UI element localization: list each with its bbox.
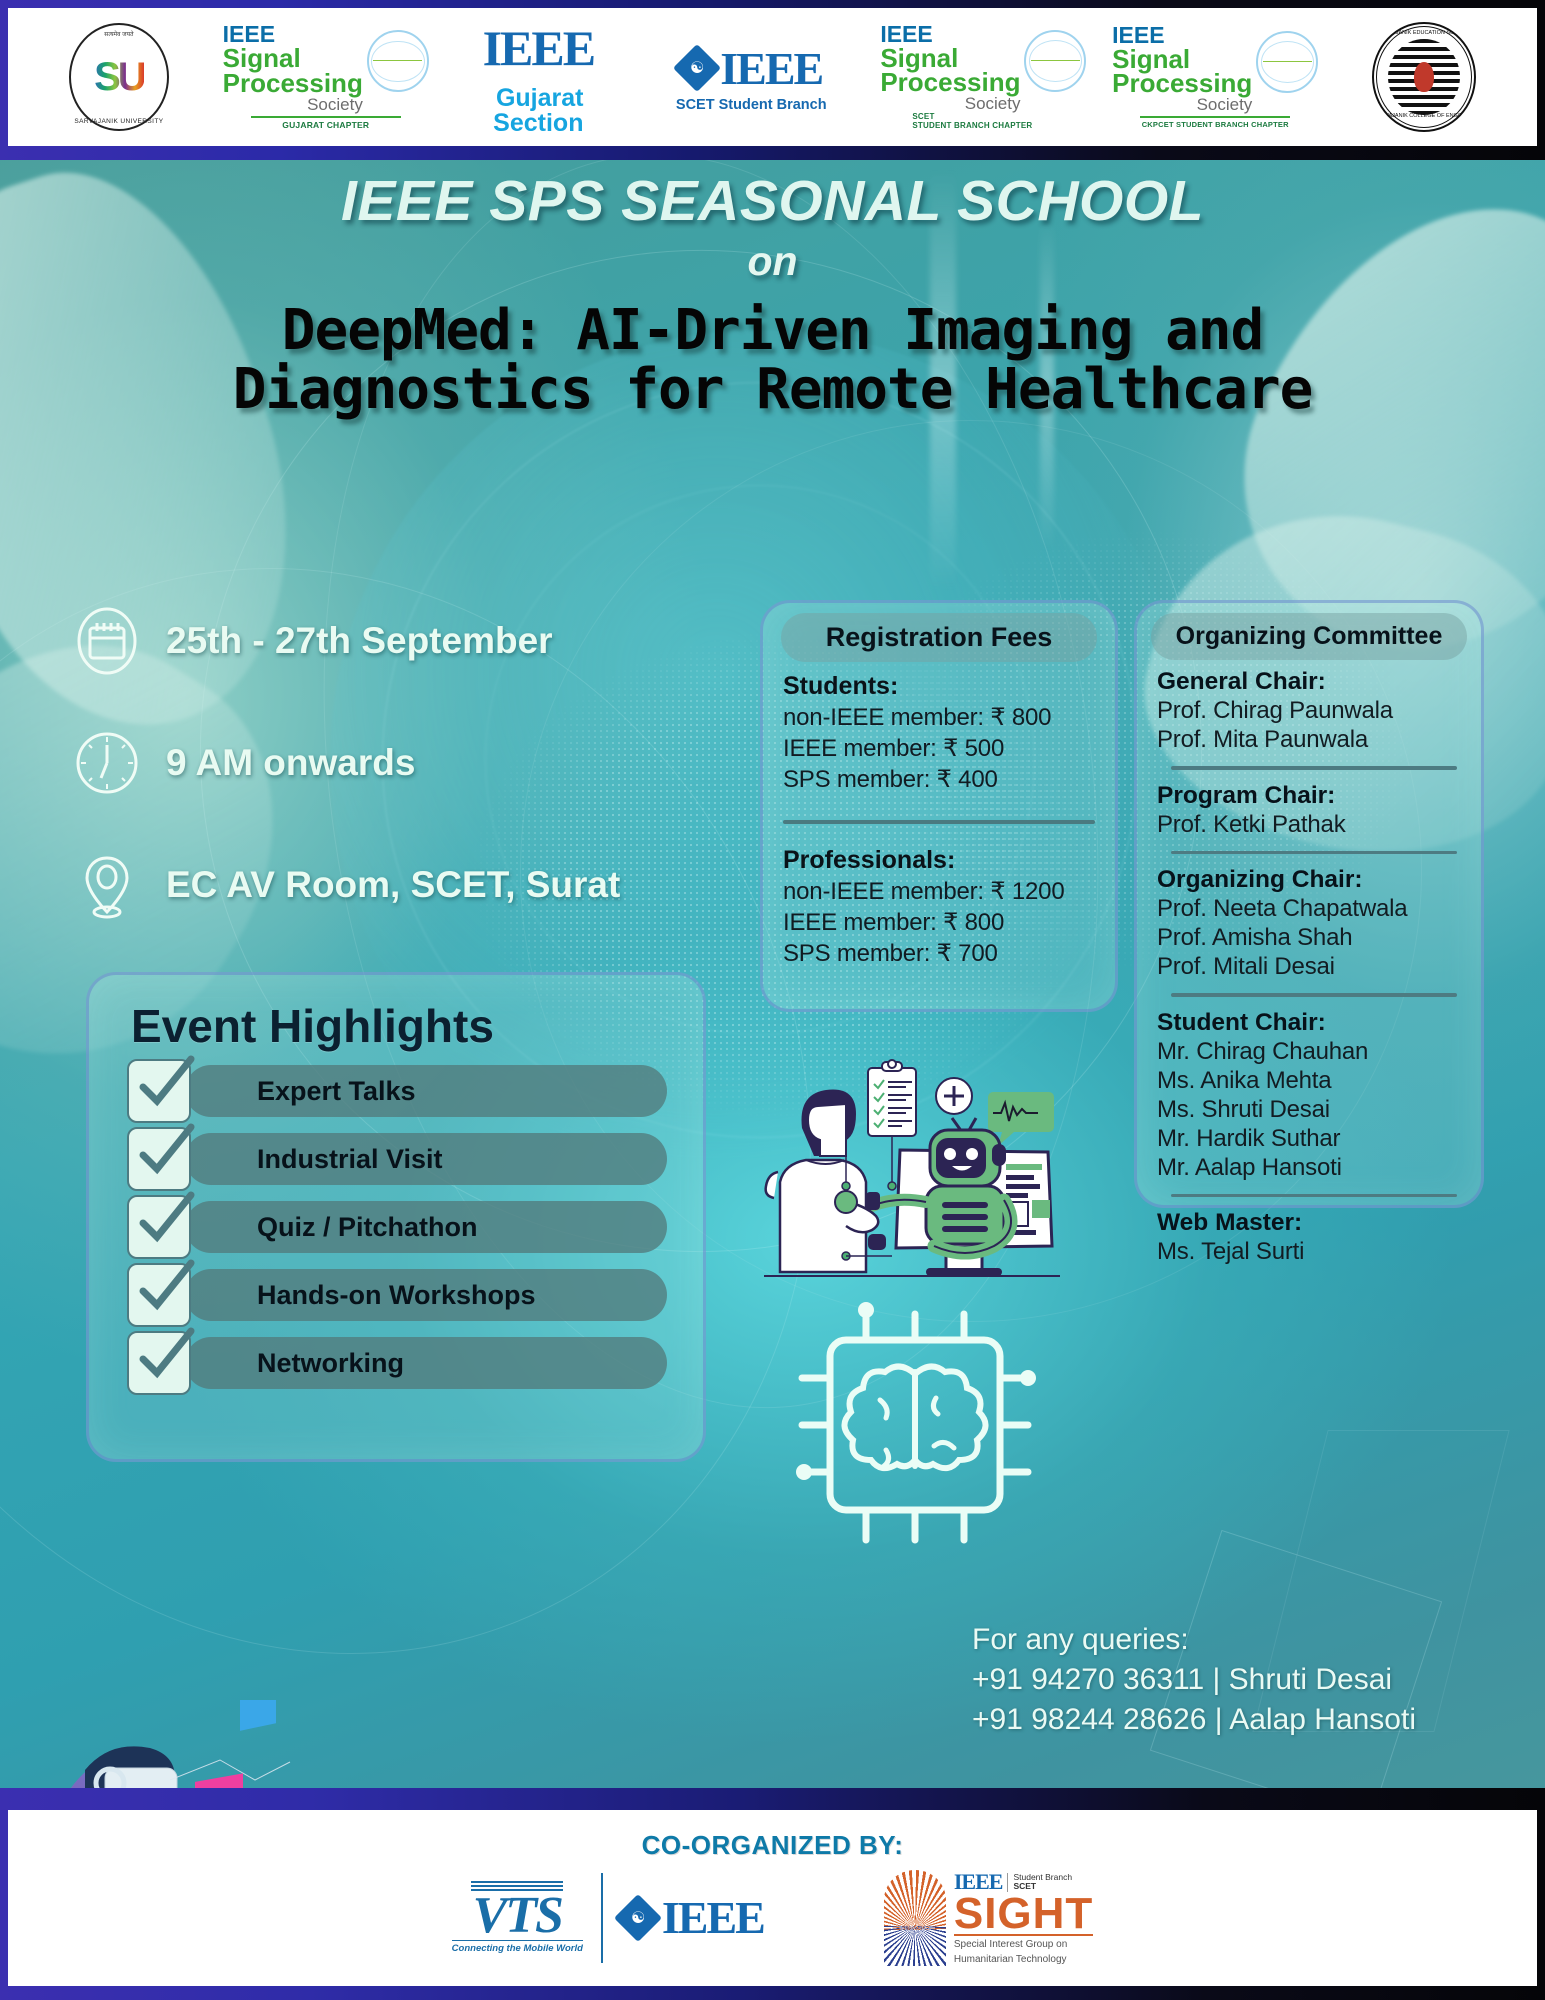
chapter-name: CKPCET STUDENT BRANCH CHAPTER xyxy=(1140,120,1290,129)
committee-divider xyxy=(1171,766,1457,770)
organizing-committee-panel: Organizing Committee General Chair: Prof… xyxy=(1134,600,1484,1208)
fees-title: Registration Fees xyxy=(781,613,1097,662)
calendar-icon xyxy=(72,606,142,676)
detail-venue-text: EC AV Room, SCET, Surat xyxy=(166,864,620,906)
chapter-line2: STUDENT BRANCH CHAPTER xyxy=(912,121,1062,130)
chapter-line1: SCET xyxy=(912,112,1062,121)
ieee-diamond-icon: ☯ xyxy=(673,44,721,92)
event-details-list: 25th - 27th September 9 AM onwards xyxy=(72,606,712,972)
committee-person: Prof. Ketki Pathak xyxy=(1157,811,1471,839)
fees-group-heading-students: Students: xyxy=(783,672,1103,701)
sarvajanik-university-seal: सत्यमेव जयते SU SARVAJANIK UNIVERSITY xyxy=(69,23,169,131)
ieee-vts-logo: VTS Connecting the Mobile World ☯ IEEE xyxy=(452,1873,764,1963)
sponsor-logo-bar: सत्यमेव जयते SU SARVAJANIK UNIVERSITY IE… xyxy=(8,8,1537,146)
gujarat-text: Gujarat xyxy=(493,86,583,111)
committee-role: Student Chair: xyxy=(1157,1009,1471,1037)
sps-globe-icon xyxy=(1024,30,1086,92)
clock-icon xyxy=(72,728,142,798)
committee-person: Ms. Shruti Desai xyxy=(1157,1096,1471,1124)
committee-role: Web Master: xyxy=(1157,1209,1471,1237)
queries-heading: For any queries: xyxy=(972,1620,1512,1660)
seal-bottom-text: SARVAJANIK COLLEGE OF ENGG. & TECH. xyxy=(1374,113,1474,125)
sps-globe-icon xyxy=(1256,31,1318,93)
ieee-sps-ckpcet-chapter-logo: IEEE Signal Processing Society CKPCET ST… xyxy=(1140,25,1290,129)
sight-subtitle-line2: Humanitarian Technology xyxy=(954,1954,1093,1966)
detail-date-text: 25th - 27th September xyxy=(166,620,553,662)
checkmark-icon xyxy=(127,1263,191,1327)
vts-wordmark: VTS xyxy=(473,1893,562,1940)
event-highlights-panel: Event Highlights Expert Talks Industrial… xyxy=(86,972,706,1462)
seal-monogram: SU xyxy=(94,55,144,100)
committee-role: Program Chair: xyxy=(1157,782,1471,810)
checkmark-icon xyxy=(127,1059,191,1123)
queries-contact: +91 98244 28626 | Aalap Hansoti xyxy=(972,1700,1512,1740)
event-title-line2: Diagnostics for Remote Healthcare xyxy=(0,358,1545,423)
ieee-diamond-icon: ☯ xyxy=(614,1893,662,1941)
highlight-item: Quiz / Pitchathon xyxy=(127,1193,703,1261)
vts-tagline: Connecting the Mobile World xyxy=(452,1940,583,1954)
location-pin-icon xyxy=(72,850,142,920)
ai-brain-chip-icon xyxy=(790,1300,1040,1550)
detail-row-venue: EC AV Room, SCET, Surat xyxy=(72,850,712,920)
society-text: Society xyxy=(880,95,1020,112)
committee-person: Ms. Anika Mehta xyxy=(1157,1067,1471,1095)
highlight-label: Networking xyxy=(257,1348,404,1379)
seal-bottom-text: SARVAJANIK UNIVERSITY xyxy=(74,118,163,125)
committee-person: Prof. Amisha Shah xyxy=(1157,924,1471,952)
highlight-label: Industrial Visit xyxy=(257,1144,443,1175)
logo-divider xyxy=(601,1873,603,1963)
seal-top-text: सत्यमेव जयते xyxy=(104,30,133,38)
headline-block: IEEE SPS SEASONAL SCHOOL on DeepMed: AI-… xyxy=(0,168,1545,423)
ieee-scet-student-branch-logo: ☯ IEEE SCET Student Branch xyxy=(676,42,827,113)
ieee-sight-scet-logo: IEEE Student Branch SCET SIGHT Special I… xyxy=(884,1869,1093,1965)
committee-person: Prof. Neeta Chapatwala xyxy=(1157,895,1471,923)
sight-subtitle-line1: Special Interest Group on xyxy=(954,1939,1093,1951)
committee-title: Organizing Committee xyxy=(1151,613,1467,660)
committee-role: General Chair: xyxy=(1157,668,1471,696)
fees-line: non-IEEE member: ₹ 800 xyxy=(783,703,1103,732)
committee-divider xyxy=(1171,993,1457,997)
fees-divider xyxy=(783,820,1095,824)
committee-person: Prof. Chirag Paunwala xyxy=(1157,697,1471,725)
fees-line: IEEE member: ₹ 500 xyxy=(783,734,1103,763)
ieee-wordmark: IEEE xyxy=(720,42,822,95)
highlight-item: Expert Talks xyxy=(127,1057,703,1125)
highlight-item: Networking xyxy=(127,1329,703,1397)
highlight-item: Hands-on Workshops xyxy=(127,1261,703,1329)
society-text: Society xyxy=(1112,96,1252,113)
contact-queries-block: For any queries: +91 94270 36311 | Shrut… xyxy=(972,1620,1512,1740)
student-branch-text: SCET Student Branch xyxy=(676,97,827,113)
queries-contact: +91 94270 36311 | Shruti Desai xyxy=(972,1660,1512,1700)
scet-college-seal: SARVAJANIK EDUCATION SOCIETY SARVAJANIK … xyxy=(1372,22,1476,132)
registration-fees-panel: Registration Fees Students: non-IEEE mem… xyxy=(760,600,1118,1012)
fees-line: IEEE member: ₹ 800 xyxy=(783,908,1103,937)
coorganized-by-label: CO-ORGANIZED BY: xyxy=(642,1830,904,1861)
highlight-label: Hands-on Workshops xyxy=(257,1280,536,1311)
ieee-wordmark: IEEE xyxy=(662,1891,764,1944)
event-title-line1: DeepMed: AI-Driven Imaging and xyxy=(0,299,1545,364)
ieee-sps-scet-chapter-logo: IEEE Signal Processing Society SCET STUD… xyxy=(908,24,1058,130)
highlights-title: Event Highlights xyxy=(131,999,703,1053)
event-series-title: IEEE SPS SEASONAL SCHOOL xyxy=(0,168,1545,234)
society-text: Society xyxy=(223,96,363,113)
processing-text: Processing xyxy=(1112,71,1252,96)
committee-divider xyxy=(1171,851,1457,855)
section-text: Section xyxy=(493,111,583,136)
checkmark-icon xyxy=(127,1195,191,1259)
sight-tree-icon xyxy=(884,1870,946,1966)
detail-time-text: 9 AM onwards xyxy=(166,742,415,784)
processing-text: Processing xyxy=(880,70,1020,95)
committee-person: Mr. Chirag Chauhan xyxy=(1157,1038,1471,1066)
fees-line: SPS member: ₹ 400 xyxy=(783,765,1103,794)
highlight-label: Expert Talks xyxy=(257,1076,416,1107)
committee-divider xyxy=(1171,1194,1457,1198)
committee-person: Prof. Mitali Desai xyxy=(1157,953,1471,981)
ieee-wordmark: IEEE xyxy=(483,19,595,77)
ieee-gujarat-section-logo: IEEE Gujarat Section xyxy=(483,19,595,136)
poster-root: सत्यमेव जयते SU SARVAJANIK UNIVERSITY IE… xyxy=(0,0,1545,2000)
medical-plus-icon xyxy=(936,1078,972,1114)
highlight-item: Industrial Visit xyxy=(127,1125,703,1193)
chapter-name: GUJARAT CHAPTER xyxy=(251,120,401,130)
seal-top-text: SARVAJANIK EDUCATION SOCIETY xyxy=(1378,30,1471,36)
committee-person: Mr. Aalap Hansoti xyxy=(1157,1154,1471,1182)
detail-row-time: 9 AM onwards xyxy=(72,728,712,798)
headline-on-word: on xyxy=(0,238,1545,285)
sps-globe-icon xyxy=(367,30,429,92)
fees-line: SPS member: ₹ 700 xyxy=(783,939,1103,968)
ieee-sps-gujarat-chapter-logo: IEEE Signal Processing Society GUJARAT C… xyxy=(251,24,401,129)
processing-text: Processing xyxy=(223,71,363,96)
fees-group-heading-professionals: Professionals: xyxy=(783,846,1103,875)
checkmark-icon xyxy=(127,1331,191,1395)
telemedicine-robot-illustration xyxy=(760,1040,1120,1290)
committee-person: Prof. Mita Paunwala xyxy=(1157,726,1471,754)
committee-role: Organizing Chair: xyxy=(1157,866,1471,894)
detail-row-date: 25th - 27th September xyxy=(72,606,712,676)
sight-wordmark: SIGHT xyxy=(954,1895,1093,1936)
committee-person: Ms. Tejal Surti xyxy=(1157,1238,1471,1266)
highlight-label: Quiz / Pitchathon xyxy=(257,1212,478,1243)
committee-person: Mr. Hardik Suthar xyxy=(1157,1125,1471,1153)
coorganizer-logo-bar: CO-ORGANIZED BY: VTS Connecting the Mobi… xyxy=(8,1810,1537,1986)
fees-line: non-IEEE member: ₹ 1200 xyxy=(783,877,1103,906)
checkmark-icon xyxy=(127,1127,191,1191)
